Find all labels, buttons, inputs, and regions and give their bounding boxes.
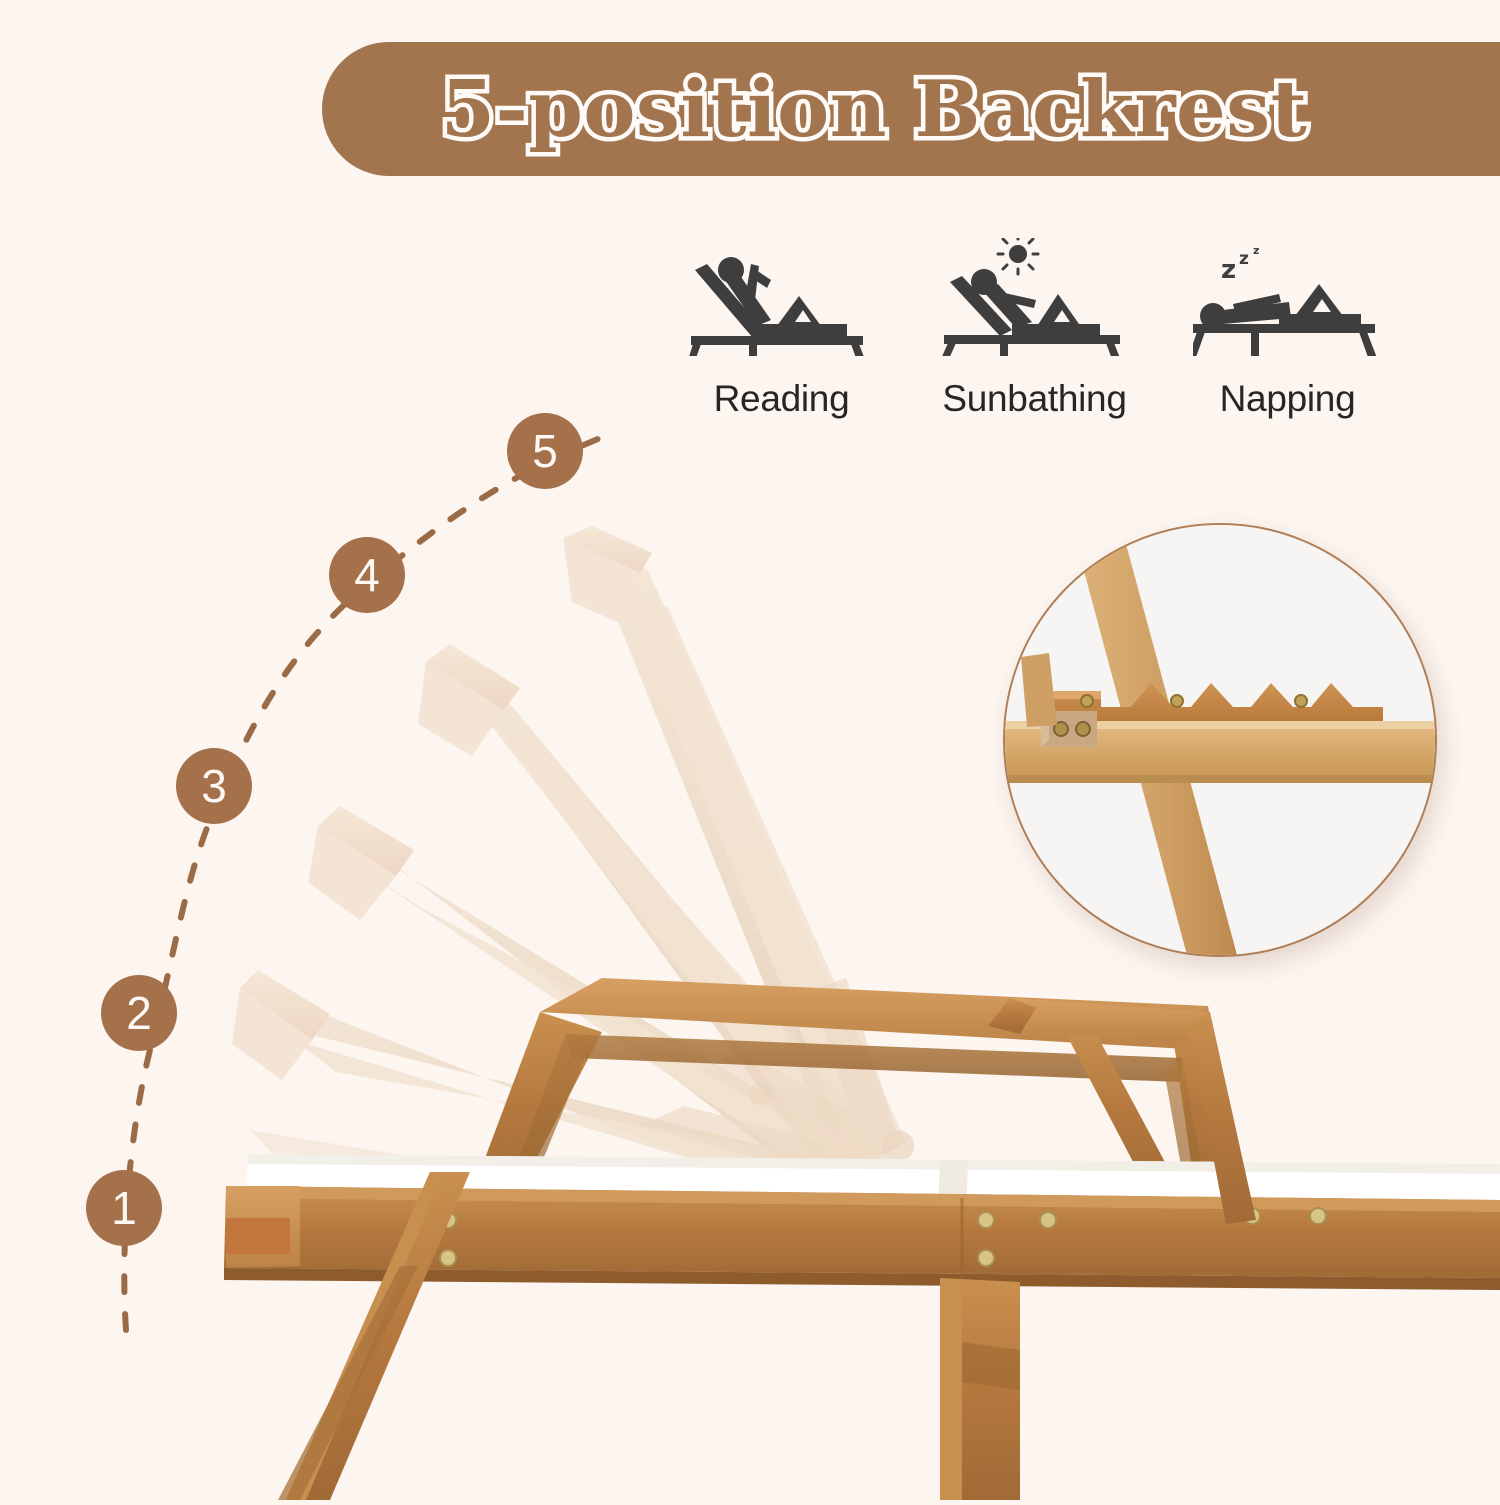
lounger-napping-icon: z z z [1193,238,1383,356]
activity-label: Reading [714,378,850,420]
position-badge-3[interactable]: 3 [176,748,252,824]
chaise-leg-rear [940,1278,1020,1500]
svg-text:z: z [1221,255,1236,285]
position-badge-5[interactable]: 5 [507,413,583,489]
activity-list: Reading [655,238,1415,438]
svg-text:z: z [1239,249,1249,269]
activity-item-sunbathing: Sunbathing [908,238,1161,420]
activity-label: Napping [1220,378,1356,420]
ghost-backrest-group [232,526,914,1230]
chaise-leg-front-back [278,1266,418,1500]
activity-label: Sunbathing [942,378,1126,420]
svg-text:z: z [1253,244,1259,257]
position-badge-4[interactable]: 4 [329,537,405,613]
infographic-canvas: 5-position Backrest [0,0,1500,1500]
page-title: 5-position Backrest [441,64,1307,155]
activity-item-napping: z z z [1161,238,1414,420]
title-banner: 5-position Backrest [322,42,1500,176]
position-badge-1[interactable]: 1 [86,1170,162,1246]
lounger-reading-icon [687,238,877,356]
position-badge-2[interactable]: 2 [101,975,177,1051]
lounger-sunbathing-icon [940,238,1130,356]
activity-item-reading: Reading [655,238,908,420]
detail-inset-circle [1003,523,1437,957]
